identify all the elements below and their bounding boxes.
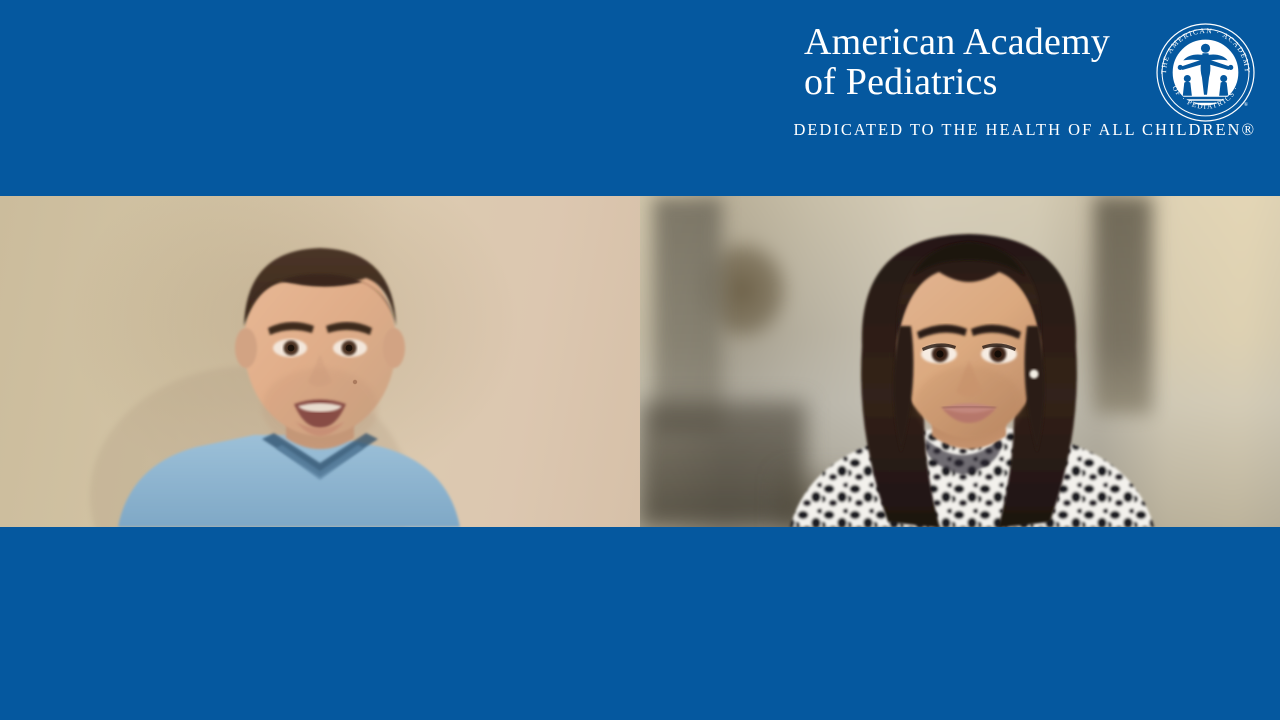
participant-left-video bbox=[0, 196, 640, 527]
participant-tile-right[interactable] bbox=[640, 196, 1280, 527]
aap-seal-icon: THE AMERICAN · ACADEMY OF · PEDIATRICS ·… bbox=[1155, 22, 1256, 123]
organization-name: American Academy of Pediatrics bbox=[804, 22, 1110, 102]
participant-tile-left[interactable] bbox=[0, 196, 640, 527]
caption-bar: Keep important documents, such as your p… bbox=[0, 527, 1280, 720]
organization-tagline: DEDICATED TO THE HEALTH OF ALL CHILDREN® bbox=[793, 120, 1256, 140]
video-grid bbox=[0, 196, 1280, 527]
participant-right-video bbox=[640, 196, 1280, 527]
organization-name-line-2: of Pediatrics bbox=[804, 62, 1110, 102]
video-frame: American Academy of Pediatrics DEDICATED… bbox=[0, 0, 1280, 720]
organization-name-line-1: American Academy bbox=[804, 22, 1110, 62]
registered-mark: ® bbox=[1244, 101, 1248, 108]
header-banner: American Academy of Pediatrics DEDICATED… bbox=[0, 0, 1280, 196]
